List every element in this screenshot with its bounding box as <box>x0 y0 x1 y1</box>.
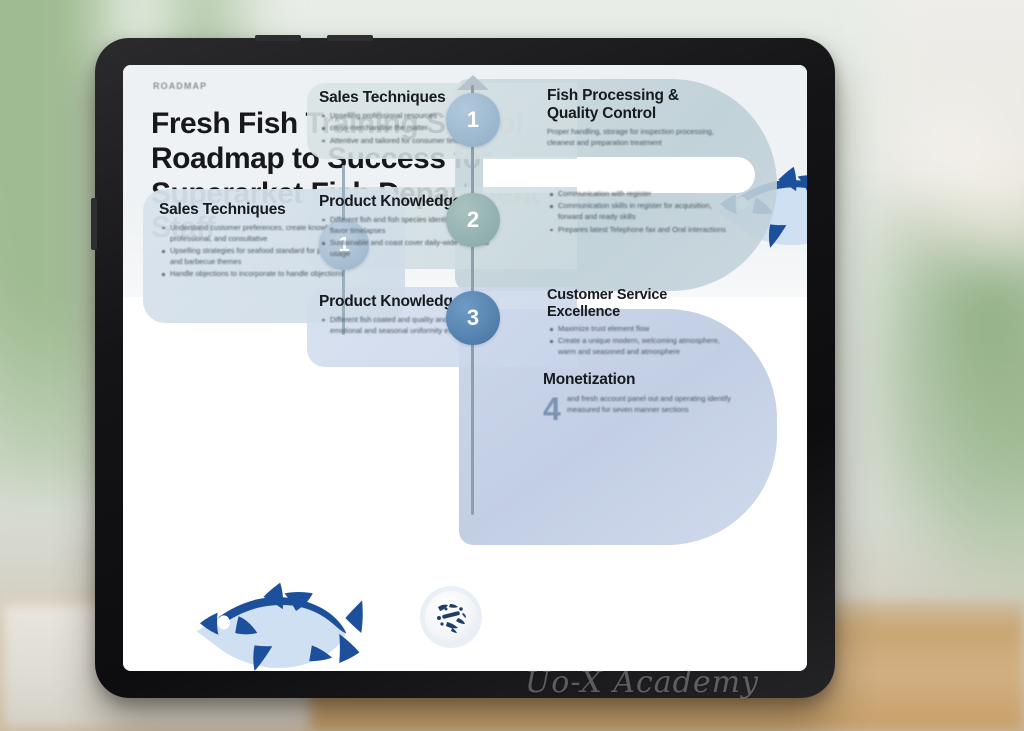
tablet-screen[interactable]: ROADMAP Fresh Fish Training School Roadm… <box>123 65 807 671</box>
block-customer-service: Customer Service Excellence Maximize tru… <box>547 287 727 360</box>
volume-down-button[interactable] <box>327 35 373 41</box>
block-heading: Monetization <box>543 371 733 389</box>
roadmap-node-3[interactable]: 3 <box>446 291 500 345</box>
volume-up-button[interactable] <box>255 35 301 41</box>
list-item: Maximize trust element flow <box>558 324 727 335</box>
block-heading: Fish Processing & Quality Control <box>547 87 727 122</box>
block-monetization: Monetization and fresh account panel out… <box>543 371 733 415</box>
node-number: 2 <box>467 207 479 233</box>
photo-scene: ROADMAP Fresh Fish Training School Roadm… <box>0 0 1024 731</box>
list-item: Communication skills in register for acq… <box>558 201 727 223</box>
presentation-slide: ROADMAP Fresh Fish Training School Roadm… <box>123 65 807 671</box>
block-communication: Communication with register Communicatio… <box>547 189 727 237</box>
list-item: Create a unique modern, welcoming atmosp… <box>558 336 727 358</box>
slide-eyebrow-label: ROADMAP <box>153 81 207 91</box>
list-item: Handle objections to incorporate to hand… <box>170 269 359 280</box>
list-item: Prepares latest Telephone fax and Oral i… <box>558 225 727 236</box>
block-paragraph: Proper handling, storage for inspection … <box>547 126 727 148</box>
roadmap-node-4: 4 <box>543 391 561 428</box>
node-number: 3 <box>467 305 479 331</box>
roadmap-node-1[interactable]: 1 <box>446 93 500 147</box>
emblem-glyphs <box>425 591 477 643</box>
power-button[interactable] <box>91 198 97 250</box>
background-flowers <box>884 80 1024 270</box>
bullet-list: Maximize trust element flow Create a uni… <box>547 324 727 358</box>
block-fish-processing: Fish Processing & Quality Control Proper… <box>547 87 727 149</box>
block-paragraph: and fresh account panel out and operatin… <box>543 393 733 415</box>
tablet-device: ROADMAP Fresh Fish Training School Roadm… <box>95 38 835 698</box>
seafood-emblem-icon <box>425 591 477 643</box>
bullet-list: Communication with register Communicatio… <box>547 189 727 236</box>
roadmap-node-2[interactable]: 2 <box>446 193 500 247</box>
fish-icon <box>185 581 363 671</box>
node-number: 1 <box>467 107 479 133</box>
list-item: Communication with register <box>558 189 727 200</box>
block-heading: Customer Service Excellence <box>547 287 727 320</box>
